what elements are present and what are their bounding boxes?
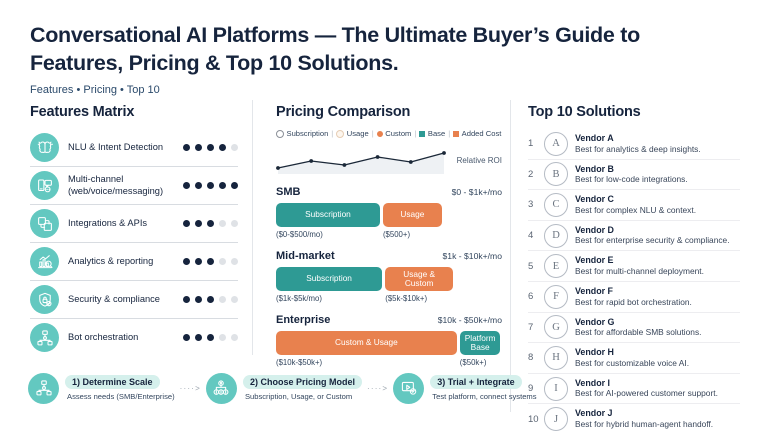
rating-dot (231, 296, 239, 304)
pricing-bar-segment[interactable]: Subscription (276, 203, 380, 227)
legend-separator: | (331, 129, 333, 138)
vendor-description: Best for hybrid human-agent handoff. (575, 420, 740, 430)
vendor-rank: 4 (528, 230, 544, 241)
vendor-text: Vendor CBest for complex NLU & context. (575, 194, 740, 215)
vendor-text: Vendor ABest for analytics & deep insigh… (575, 133, 740, 154)
rating-dot (195, 334, 203, 342)
legend-marker-sq-teal (419, 131, 425, 137)
vendor-list-item[interactable]: 9IVendor IBest for AI-powered customer s… (528, 373, 740, 404)
devices-chat-icon (30, 171, 59, 200)
vendor-list-item[interactable]: 4DVendor DBest for enterprise security &… (528, 220, 740, 251)
legend-item: Subscription (276, 129, 328, 138)
vendor-list-item[interactable]: 3CVendor CBest for complex NLU & context… (528, 189, 740, 220)
pricing-bar-segment[interactable]: Custom & Usage (276, 331, 457, 355)
vendor-text: Vendor GBest for affordable SMB solution… (575, 317, 740, 338)
pricing-tier: Mid-market$1k - $10k+/moSubscriptionUsag… (276, 250, 502, 303)
vendor-text: Vendor FBest for rapid bot orchestration… (575, 286, 740, 307)
trial-check-icon (393, 373, 424, 404)
rating-dot (219, 144, 227, 152)
vendor-name: Vendor D (575, 225, 740, 236)
vendor-rank: 10 (528, 414, 544, 425)
rating-dot (207, 182, 215, 190)
feature-rating-dots (183, 296, 239, 304)
pricing-bar-group: SubscriptionUsage (276, 203, 502, 227)
rating-dot (219, 182, 227, 190)
process-step-title: 2) Choose Pricing Model (243, 375, 362, 389)
vendor-list-item[interactable]: 7GVendor GBest for affordable SMB soluti… (528, 312, 740, 343)
legend-separator: | (448, 129, 450, 138)
vendor-list-item[interactable]: 6FVendor FBest for rapid bot orchestrati… (528, 281, 740, 312)
vendor-text: Vendor JBest for hybrid human-agent hand… (575, 408, 740, 429)
shield-lock-icon (30, 285, 59, 314)
rating-dot (219, 334, 227, 342)
vendor-rank: 3 (528, 199, 544, 210)
feature-label: Integrations & APIs (68, 218, 183, 230)
vendor-text: Vendor IBest for AI-powered customer sup… (575, 378, 740, 399)
process-step-text: 1) Determine ScaleAssess needs (SMB/Ente… (65, 375, 175, 401)
vendor-description: Best for complex NLU & context. (575, 206, 740, 216)
vendor-rank: 6 (528, 291, 544, 302)
vendor-text: Vendor EBest for multi-channel deploymen… (575, 255, 740, 276)
vendor-badge-icon: I (544, 377, 568, 401)
vendor-name: Vendor E (575, 255, 740, 266)
process-step-text: 3) Trial + IntegrateTest platform, conne… (430, 375, 536, 401)
vendor-badge-icon: B (544, 162, 568, 186)
process-step-title: 1) Determine Scale (65, 375, 160, 389)
feature-row: Bot orchestration (30, 318, 238, 356)
pricing-bar-group: Custom & UsagePlatform Base (276, 331, 502, 355)
page-title: Conversational AI Platforms — The Ultima… (30, 22, 730, 77)
rating-dot (183, 296, 191, 304)
rating-dot (183, 220, 191, 228)
vendor-description: Best for AI-powered customer support. (575, 389, 740, 399)
rating-dot (207, 144, 215, 152)
pricing-tier-header: Enterprise$10k - $50k+/mo (276, 314, 502, 326)
legend-item: Custom (377, 129, 412, 138)
infographic-canvas: Conversational AI Platforms — The Ultima… (0, 0, 768, 429)
top-10-title: Top 10 Solutions (528, 104, 740, 120)
vendor-description: Best for multi-channel deployment. (575, 267, 740, 277)
pricing-bar-group: SubscriptionUsage & Custom (276, 267, 502, 291)
pricing-tier-name: Enterprise (276, 314, 330, 326)
pricing-bar-segment[interactable]: Subscription (276, 267, 382, 291)
vendor-name: Vendor F (575, 286, 740, 297)
pricing-comparison-section: Pricing Comparison Subscription|Usage|Cu… (276, 104, 502, 378)
rating-dot (207, 296, 215, 304)
vendor-rank: 1 (528, 138, 544, 149)
process-step: 1) Determine ScaleAssess needs (SMB/Ente… (28, 373, 175, 404)
legend-marker-circ-orange (377, 131, 383, 137)
legend-item: Usage (336, 129, 368, 138)
vendor-list-item[interactable]: 10JVendor JBest for hybrid human-agent h… (528, 403, 740, 434)
rating-dot (195, 258, 203, 266)
legend-label: Added Cost (462, 129, 502, 138)
header: Conversational AI Platforms — The Ultima… (30, 22, 730, 96)
puzzle-api-icon (30, 209, 59, 238)
vendor-text: Vendor HBest for customizable voice AI. (575, 347, 740, 368)
rating-dot (231, 334, 239, 342)
legend-marker-circ-o (276, 130, 284, 138)
brain-icon (30, 133, 59, 162)
rating-dot (207, 258, 215, 266)
relative-roi-sparkline: Relative ROI (276, 144, 502, 178)
process-step: 3) Trial + IntegrateTest platform, conne… (393, 373, 536, 404)
process-step: 2) Choose Pricing ModelSubscription, Usa… (206, 373, 362, 404)
vendor-text: Vendor BBest for low-code integrations. (575, 164, 740, 185)
rating-dot (231, 182, 239, 190)
rating-dot (183, 334, 191, 342)
rating-dot (219, 220, 227, 228)
pricing-tier-name: SMB (276, 186, 300, 198)
process-arrow-icon: ····> (367, 384, 388, 393)
pricing-tier-range: $1k - $10k+/mo (443, 251, 502, 261)
vendor-badge-icon: G (544, 315, 568, 339)
orchestration-icon (30, 323, 59, 352)
rating-dot (183, 144, 191, 152)
rating-dot (195, 182, 203, 190)
process-step-description: Test platform, connect systems (430, 392, 536, 401)
pricing-bar-segment[interactable]: Usage (383, 203, 442, 227)
roi-label: Relative ROI (454, 156, 502, 165)
pricing-tier-header: SMB$0 - $1k+/mo (276, 186, 502, 198)
feature-row: Multi-channel (web/voice/messaging) (30, 166, 238, 204)
features-matrix-section: Features Matrix NLU & Intent DetectionMu… (30, 104, 238, 356)
vendor-description: Best for analytics & deep insights. (575, 145, 740, 155)
vendor-name: Vendor J (575, 408, 740, 419)
vendor-badge-icon: E (544, 254, 568, 278)
vendor-name: Vendor H (575, 347, 740, 358)
pricing-tier-list: SMB$0 - $1k+/moSubscriptionUsage($0-$500… (276, 186, 502, 367)
vendor-text: Vendor DBest for enterprise security & c… (575, 225, 740, 246)
chart-analytics-icon (30, 247, 59, 276)
vendor-description: Best for affordable SMB solutions. (575, 328, 740, 338)
vendor-name: Vendor B (575, 164, 740, 175)
vendor-badge-icon: J (544, 407, 568, 431)
rating-dot (231, 258, 239, 266)
pricing-comparison-title: Pricing Comparison (276, 104, 502, 120)
legend-item: Base (419, 129, 445, 138)
pricing-tier: SMB$0 - $1k+/moSubscriptionUsage($0-$500… (276, 186, 502, 239)
page-subtitle: Features • Pricing • Top 10 (30, 84, 730, 96)
rating-dot (219, 296, 227, 304)
process-arrow-dashes: ····> (367, 384, 388, 393)
feature-label: Analytics & reporting (68, 256, 183, 268)
pricing-bar-notes: ($0-$500/mo)($500+) (276, 230, 502, 239)
process-step-text: 2) Choose Pricing ModelSubscription, Usa… (243, 375, 362, 401)
pricing-bar-note: ($500+) (383, 230, 442, 239)
rating-dot (207, 334, 215, 342)
vendor-badge-icon: F (544, 285, 568, 309)
features-matrix-list: NLU & Intent DetectionMulti-channel (web… (30, 129, 238, 356)
feature-row: Security & compliance (30, 280, 238, 318)
rating-dot (183, 182, 191, 190)
vendor-rank: 2 (528, 169, 544, 180)
rating-dot (195, 296, 203, 304)
process-arrow-dashes: ····> (180, 384, 201, 393)
vendor-badge-icon: H (544, 346, 568, 370)
vendor-list-item[interactable]: 5EVendor EBest for multi-channel deploym… (528, 250, 740, 281)
legend-label: Custom (385, 129, 411, 138)
pricing-bar-segment[interactable]: Usage & Custom (385, 267, 453, 291)
legend-item: Added Cost (453, 129, 501, 138)
vendor-description: Best for low-code integrations. (575, 175, 740, 185)
vendor-badge-icon: D (544, 224, 568, 248)
pricing-tier-name: Mid-market (276, 250, 335, 262)
vendor-rank: 5 (528, 261, 544, 272)
rating-dot (183, 258, 191, 266)
pricing-tier-range: $0 - $1k+/mo (452, 187, 502, 197)
pricing-bar-note: ($1k-$5k/mo) (276, 294, 382, 303)
vendor-list-item[interactable]: 8HVendor HBest for customizable voice AI… (528, 342, 740, 373)
orchestration-icon (28, 373, 59, 404)
pricing-bar-note: ($5k-$10k+) (385, 294, 453, 303)
feature-label: Security & compliance (68, 294, 183, 306)
vendor-name: Vendor A (575, 133, 740, 144)
vendor-description: Best for customizable voice AI. (575, 359, 740, 369)
legend-label: Subscription (287, 129, 329, 138)
vendor-description: Best for rapid bot orchestration. (575, 298, 740, 308)
rating-dot (195, 220, 203, 228)
rating-dot (231, 220, 239, 228)
pricing-bar-note: ($0-$500/mo) (276, 230, 380, 239)
rating-dot (195, 144, 203, 152)
feature-rating-dots (183, 258, 239, 266)
rating-dot (219, 258, 227, 266)
vendor-rank: 8 (528, 352, 544, 363)
legend-marker-circ-cream (336, 130, 344, 138)
feature-label: Multi-channel (web/voice/messaging) (68, 174, 183, 197)
process-step-title: 3) Trial + Integrate (430, 375, 521, 389)
legend-label: Usage (347, 129, 369, 138)
legend-separator: | (414, 129, 416, 138)
vendor-name: Vendor G (575, 317, 740, 328)
feature-rating-dots (183, 334, 239, 342)
pricing-bar-segment[interactable]: Platform Base (460, 331, 501, 355)
pricing-tier: Enterprise$10k - $50k+/moCustom & UsageP… (276, 314, 502, 367)
pricing-tier-header: Mid-market$1k - $10k+/mo (276, 250, 502, 262)
feature-row: Analytics & reporting (30, 242, 238, 280)
vendor-badge-icon: A (544, 132, 568, 156)
process-step-description: Subscription, Usage, or Custom (243, 392, 362, 401)
vendor-name: Vendor C (575, 194, 740, 205)
feature-rating-dots (183, 220, 239, 228)
legend-separator: | (372, 129, 374, 138)
process-step-description: Assess needs (SMB/Enterprise) (65, 392, 175, 401)
feature-label: NLU & Intent Detection (68, 142, 183, 154)
vendor-list-item[interactable]: 1AVendor ABest for analytics & deep insi… (528, 129, 740, 159)
feature-label: Bot orchestration (68, 332, 183, 344)
column-divider-left (252, 100, 253, 355)
process-steps-bar: 1) Determine ScaleAssess needs (SMB/Ente… (28, 364, 508, 412)
vendor-list: 1AVendor ABest for analytics & deep insi… (528, 129, 740, 434)
process-arrow-icon: ····> (180, 384, 201, 393)
vendor-description: Best for enterprise security & complianc… (575, 236, 740, 246)
rating-dot (231, 144, 239, 152)
vendor-name: Vendor I (575, 378, 740, 389)
pricing-model-icon (206, 373, 237, 404)
pricing-tier-range: $10k - $50k+/mo (438, 315, 502, 325)
vendor-list-item[interactable]: 2BVendor BBest for low-code integrations… (528, 159, 740, 190)
rating-dot (207, 220, 215, 228)
feature-rating-dots (183, 144, 239, 152)
feature-row: Integrations & APIs (30, 204, 238, 242)
vendor-badge-icon: C (544, 193, 568, 217)
feature-rating-dots (183, 182, 239, 190)
feature-row: NLU & Intent Detection (30, 129, 238, 166)
top-10-solutions-section: Top 10 Solutions 1AVendor ABest for anal… (528, 104, 740, 434)
legend-label: Base (428, 129, 445, 138)
column-divider-right (510, 100, 511, 412)
pricing-legend: Subscription|Usage|Custom|Base|Added Cos… (276, 129, 502, 138)
legend-marker-sq-orange (453, 131, 459, 137)
pricing-bar-notes: ($1k-$5k/mo)($5k-$10k+) (276, 294, 502, 303)
features-matrix-title: Features Matrix (30, 104, 238, 120)
vendor-rank: 7 (528, 322, 544, 333)
